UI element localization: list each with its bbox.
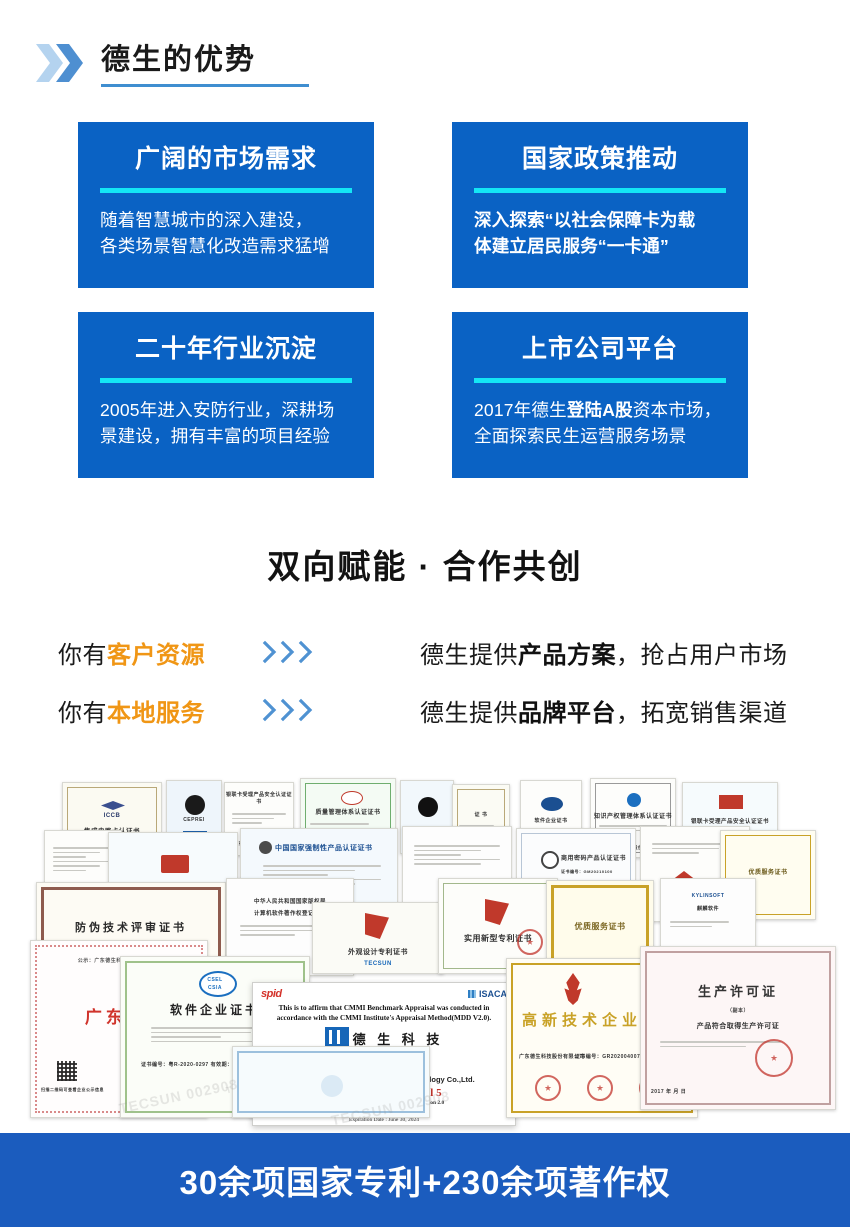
certificate-item: 外观设计专利证书 TECSUN bbox=[312, 902, 444, 974]
card-body-line2: 体建立居民服务“一卡通” bbox=[474, 236, 669, 256]
benefit-right-suffix: ，拓宽销售渠道 bbox=[616, 700, 788, 727]
chevron-right-icon bbox=[298, 640, 314, 664]
card-body-line1: 2005年进入安防行业，深耕场 bbox=[100, 400, 334, 420]
benefit-left-prefix: 你有 bbox=[58, 700, 107, 727]
card-title: 国家政策推动 bbox=[522, 144, 678, 174]
benefit-row-2: 你有本地服务 德生提供品牌平台，拓宽销售渠道 bbox=[58, 686, 798, 734]
isaca-label: ISACA bbox=[479, 989, 507, 999]
card-title: 上市公司平台 bbox=[522, 334, 678, 364]
advantages-page: 德生的优势 广阔的市场需求 随着智慧城市的深入建设， 各类场景智慧化改造需求猛增… bbox=[0, 0, 850, 1227]
card-title: 广阔的市场需求 bbox=[135, 144, 317, 174]
certificate-title: 银联卡受理产品安全认证证书 bbox=[225, 791, 293, 805]
isaca-logo: ISACA bbox=[468, 989, 507, 999]
card-body-line1-strong: 登陆A股 bbox=[567, 400, 633, 420]
certificate-title: 外观设计专利证书 bbox=[313, 947, 443, 957]
benefit-left-highlight: 客户资源 bbox=[107, 642, 205, 669]
benefit-right-text: 德生提供产品方案，抢占用户市场 bbox=[420, 635, 788, 670]
benefit-left-text: 你有客户资源 bbox=[58, 635, 258, 670]
chevron-right-icon bbox=[280, 698, 296, 722]
benefit-arrows-icon bbox=[262, 698, 382, 722]
card-body-line2: 各类场景智慧化改造需求猛增 bbox=[100, 236, 330, 256]
benefit-left-prefix: 你有 bbox=[58, 642, 107, 669]
section-title-wrap: 德生的优势 bbox=[101, 43, 256, 83]
card-body-line1: 随着智慧城市的深入建设， bbox=[100, 210, 312, 230]
chevron-group-icon bbox=[36, 44, 83, 82]
certificate-title: 生产许可证 bbox=[641, 981, 835, 1000]
advantage-card-4: 上市公司平台 2017年德生登陆A股资本市场， 全面探索民生运营服务场景 bbox=[452, 312, 748, 478]
card-body-line1-post: 资本市场， bbox=[633, 400, 722, 420]
certificate-title: 中国国家强制性产品认证证书 bbox=[275, 843, 397, 853]
benefit-right-suffix: ，抢占用户市场 bbox=[616, 642, 788, 669]
advantage-card-2: 国家政策推动 深入探索“以社会保障卡为载 体建立居民服务“一卡通” bbox=[452, 122, 748, 288]
page-title: 德生的优势 bbox=[101, 43, 256, 77]
chevron-right-icon bbox=[262, 640, 278, 664]
card-body: 随着智慧城市的深入建设， 各类场景智慧化改造需求猛增 bbox=[100, 207, 352, 259]
benefit-right-prefix: 德生提供 bbox=[420, 642, 518, 669]
certificate-title: 商用密码产品认证证书 bbox=[561, 853, 635, 862]
card-divider bbox=[100, 188, 352, 193]
certificate-title: ICCB bbox=[63, 813, 161, 819]
advantage-card-1: 广阔的市场需求 随着智慧城市的深入建设， 各类场景智慧化改造需求猛增 bbox=[78, 122, 374, 288]
bottom-banner: 30余项国家专利+230余项著作权 bbox=[0, 1133, 850, 1227]
benefit-list: 你有客户资源 德生提供产品方案，抢占用户市场 你有本地服务 德生提供品牌平台，拓… bbox=[58, 628, 798, 744]
benefit-left-text: 你有本地服务 bbox=[58, 693, 258, 728]
certificate-title: 优质服务证书 bbox=[721, 867, 815, 876]
advantage-card-3: 二十年行业沉淀 2005年进入安防行业，深耕场 景建设，拥有丰富的项目经验 bbox=[78, 312, 374, 478]
certificate-title: TECSUN bbox=[313, 961, 443, 967]
card-body-line2: 景建设，拥有丰富的项目经验 bbox=[100, 426, 330, 446]
card-title: 二十年行业沉淀 bbox=[135, 334, 317, 364]
benefit-row-1: 你有客户资源 德生提供产品方案，抢占用户市场 bbox=[58, 628, 798, 676]
card-body: 2017年德生登陆A股资本市场， 全面探索民生运营服务场景 bbox=[474, 397, 726, 449]
benefit-left-highlight: 本地服务 bbox=[107, 700, 205, 727]
card-divider bbox=[100, 378, 352, 383]
certificate-title: 质量管理体系认证证书 bbox=[301, 807, 395, 816]
card-divider bbox=[474, 188, 726, 193]
card-body: 2005年进入安防行业，深耕场 景建设，拥有丰富的项目经验 bbox=[100, 397, 352, 449]
certificate-title: 知识产权管理体系认证证书 bbox=[591, 811, 675, 820]
benefit-right-highlight: 产品方案 bbox=[518, 642, 616, 669]
benefit-arrows-icon bbox=[262, 640, 382, 664]
spid-logo: spid bbox=[261, 988, 282, 1000]
title-underline bbox=[101, 84, 309, 87]
certificate-title: 防伪技术评审证书 bbox=[37, 919, 225, 935]
certificate-title: 产品符合取得生产许可证 bbox=[641, 1021, 835, 1031]
benefit-right-prefix: 德生提供 bbox=[420, 700, 518, 727]
cmmi-affirmation: This is to affirm that CMMI Benchmark Ap… bbox=[263, 1003, 505, 1023]
card-body: 深入探索“以社会保障卡为载 体建立居民服务“一卡通” bbox=[474, 207, 726, 259]
card-body-line2: 全面探索民生运营服务场景 bbox=[474, 426, 686, 446]
advantage-card-grid: 广阔的市场需求 随着智慧城市的深入建设， 各类场景智慧化改造需求猛增 国家政策推… bbox=[78, 122, 778, 478]
benefit-right-highlight: 品牌平台 bbox=[518, 700, 616, 727]
section-header: 德生的优势 bbox=[36, 38, 256, 88]
card-divider bbox=[474, 378, 726, 383]
certificate-collage: ICCB 集成电路卡认证书 CEPREI 银联卡受理产品安全认证证书 广东德生科… bbox=[0, 770, 850, 1135]
certificate-item: 生产许可证 （副本） 产品符合取得生产许可证 2017 年 月 日 bbox=[640, 946, 836, 1110]
mid-section-heading: 双向赋能 · 合作共创 bbox=[0, 540, 850, 588]
benefit-right-text: 德生提供品牌平台，拓宽销售渠道 bbox=[420, 693, 788, 728]
chevron-right-icon-dark bbox=[56, 44, 83, 82]
certificate-item: 优质服务证书 bbox=[546, 880, 654, 970]
card-body-line1: 深入探索“以社会保障卡为载 bbox=[474, 210, 695, 230]
chevron-right-icon bbox=[280, 640, 296, 664]
certificate-title: 银联卡受理产品安全认证证书 bbox=[683, 817, 777, 825]
chevron-right-icon bbox=[262, 698, 278, 722]
chevron-right-icon bbox=[298, 698, 314, 722]
cmmi-affirm-line2: accordance with the CMMI Institute's App… bbox=[277, 1014, 491, 1022]
cmmi-affirm-line1: This is to affirm that CMMI Benchmark Ap… bbox=[279, 1004, 490, 1012]
bottom-banner-text: 30余项国家专利+230余项著作权 bbox=[179, 1156, 670, 1204]
card-body-line1-pre: 2017年德生 bbox=[474, 400, 567, 420]
